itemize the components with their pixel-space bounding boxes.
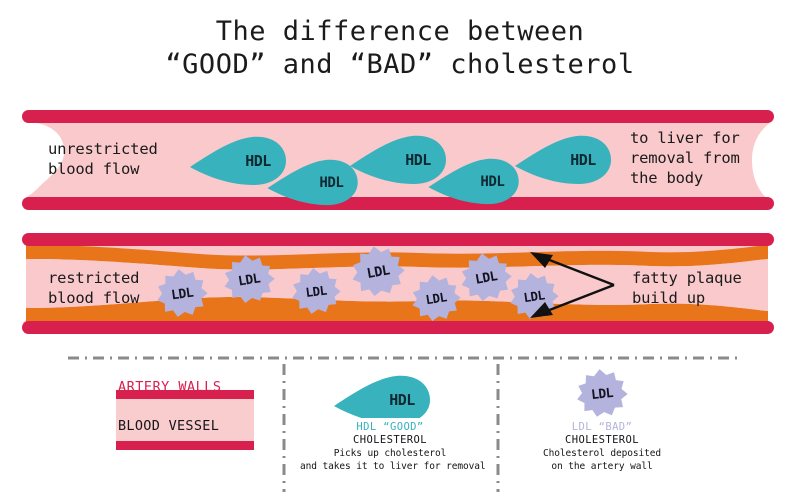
legend-ldl: LDL LDL “BAD” CHOLESTEROL Cholesterol de… xyxy=(512,368,692,473)
hdl-teardrop xyxy=(334,376,430,418)
legend-blood-vessel-label: BLOOD VESSEL xyxy=(118,418,219,434)
healthy-artery-section: HDL HDL HDL HDL HDL xyxy=(0,104,800,216)
artery-wall-top xyxy=(22,233,774,246)
hdl-label: HDL xyxy=(405,151,431,169)
healthy-artery-left-label: unrestricted blood flow xyxy=(48,139,158,179)
title-line-1: The difference between xyxy=(0,16,800,49)
clogged-artery-left-label: restricted blood flow xyxy=(48,268,139,308)
legend-ldl-graphic: LDL xyxy=(542,368,662,418)
legend-hdl: HDL HDL “GOOD” CHOLESTEROL Picks up chol… xyxy=(300,368,480,473)
vertical-divider-right xyxy=(496,364,500,492)
hdl-label: HDL xyxy=(245,152,271,170)
healthy-artery-right-label: to liver for removal from the body xyxy=(630,128,740,188)
legend-ldl-title: LDL “BAD” xyxy=(512,421,692,434)
vertical-divider-left xyxy=(282,364,286,492)
ldl-label: LDL xyxy=(523,287,546,305)
artery-wall-bottom xyxy=(22,197,774,210)
legend-ldl-description: Cholesterol deposited on the artery wall xyxy=(512,448,692,473)
legend-hdl-description: Picks up cholesterol and takes it to liv… xyxy=(300,448,480,473)
legend-ldl-particle-label: LDL xyxy=(590,386,614,403)
artery-wall-top xyxy=(22,110,774,123)
horizontal-divider xyxy=(68,356,740,360)
hdl-label: HDL xyxy=(319,175,343,191)
artery-wall-bottom xyxy=(22,321,774,334)
legend-hdl-subtitle: CHOLESTEROL xyxy=(300,434,480,447)
hdl-label: HDL xyxy=(570,151,596,169)
legend-hdl-title: HDL “GOOD” xyxy=(300,421,480,434)
legend-artery-walls-label: ARTERY WALLS xyxy=(118,379,222,395)
ldl-label: LDL xyxy=(305,283,328,300)
ldl-label: LDL xyxy=(170,285,195,303)
legend-hdl-graphic: HDL xyxy=(330,368,450,418)
infographic-root: The difference between “GOOD” and “BAD” … xyxy=(0,0,800,500)
clogged-artery-section: LDL LDL LDL LDL LDL xyxy=(0,228,800,340)
page-title: The difference between “GOOD” and “BAD” … xyxy=(0,16,800,82)
legend-artery-wall-bottom xyxy=(116,441,254,450)
legend-hdl-particle-label: HDL xyxy=(389,391,415,409)
clogged-artery-right-label: fatty plaque build up xyxy=(632,268,742,308)
title-line-2: “GOOD” and “BAD” cholesterol xyxy=(0,49,800,82)
legend-ldl-subtitle: CHOLESTEROL xyxy=(512,434,692,447)
hdl-label: HDL xyxy=(480,174,504,190)
